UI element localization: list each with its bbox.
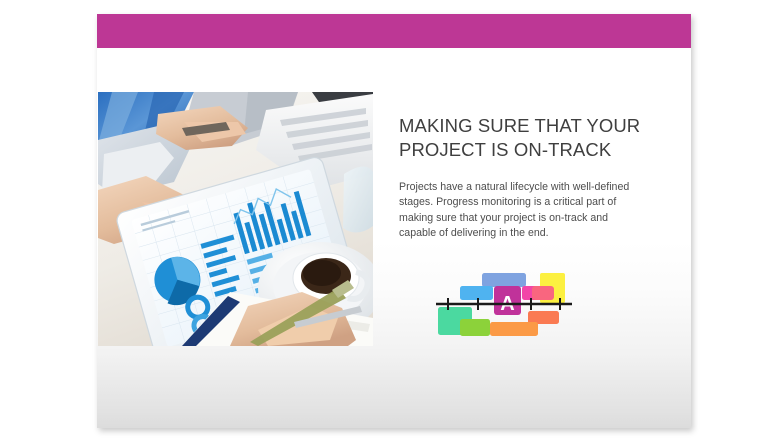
gantt-bar-orange-bottom: [490, 322, 538, 336]
gantt-bar-blue-small: [460, 286, 493, 300]
gantt-bar-green-light: [460, 319, 490, 336]
slide-canvas: MAKING SURE THAT YOUR PROJECT IS ON-TRAC…: [97, 14, 691, 428]
page-title: MAKING SURE THAT YOUR PROJECT IS ON-TRAC…: [399, 114, 659, 162]
meeting-photo-illustration: [98, 92, 373, 346]
body-text: Projects have a natural lifecycle with w…: [399, 180, 647, 242]
gantt-bar-pink-salmon: [532, 286, 554, 300]
header-band: [97, 14, 691, 48]
gantt-bar-blue-periwinkle: [482, 273, 526, 287]
gantt-timeline-svg: A: [434, 267, 574, 339]
meeting-photo: [98, 92, 373, 346]
gantt-timeline-graphic: A: [434, 267, 574, 339]
